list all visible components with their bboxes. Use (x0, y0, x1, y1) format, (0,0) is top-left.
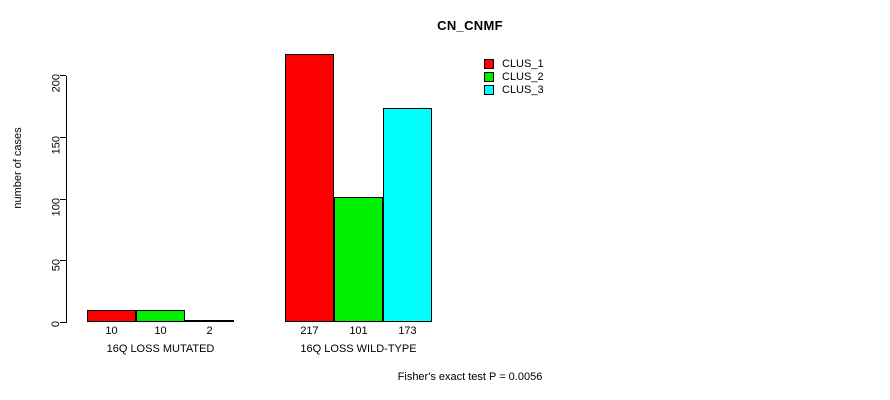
bar-clus_1-group1 (87, 310, 136, 322)
y-tick-label: 100 (50, 198, 62, 216)
bar-clus_2-group2 (334, 197, 383, 322)
legend-swatch-icon (484, 72, 494, 82)
bar-clus_2-group1 (136, 310, 185, 322)
legend-label: CLUS_1 (502, 58, 544, 71)
y-tick-label-wrap: 50 (18, 253, 56, 267)
bar-value-label: 217 (285, 324, 334, 338)
group-label: 16Q LOSS WILD-TYPE (249, 341, 469, 357)
y-axis-line (66, 76, 67, 323)
y-axis-title: number of cases (12, 98, 24, 238)
bar-value-label: 10 (136, 324, 185, 338)
group-label: 16Q LOSS MUTATED (51, 341, 271, 357)
bar-value-label: 173 (383, 324, 432, 338)
legend-swatch-icon (484, 85, 494, 95)
bar-value-label: 10 (87, 324, 136, 338)
legend-label: CLUS_2 (502, 71, 544, 84)
legend-label: CLUS_3 (502, 84, 544, 97)
y-tick-label-wrap: 200 (18, 68, 56, 82)
bar-value-label: 101 (334, 324, 383, 338)
bar-clus_3-group2 (383, 108, 432, 322)
y-tick-label: 50 (50, 259, 62, 271)
legend-swatch-icon (484, 59, 494, 69)
y-tick-label: 150 (50, 136, 62, 154)
footer-annotation: Fisher's exact test P = 0.0056 (0, 371, 890, 383)
y-tick-label-wrap: 0 (18, 315, 56, 329)
bar-clus_1-group2 (285, 54, 334, 322)
y-tick-label: 0 (50, 321, 62, 327)
bar-clus_3-group1 (185, 320, 234, 322)
bar-value-label: 2 (185, 324, 234, 338)
chart-canvas: CN_CNMF 050100150200 number of cases 101… (0, 0, 890, 400)
y-tick-label: 200 (50, 74, 62, 92)
chart-title: CN_CNMF (0, 18, 890, 33)
